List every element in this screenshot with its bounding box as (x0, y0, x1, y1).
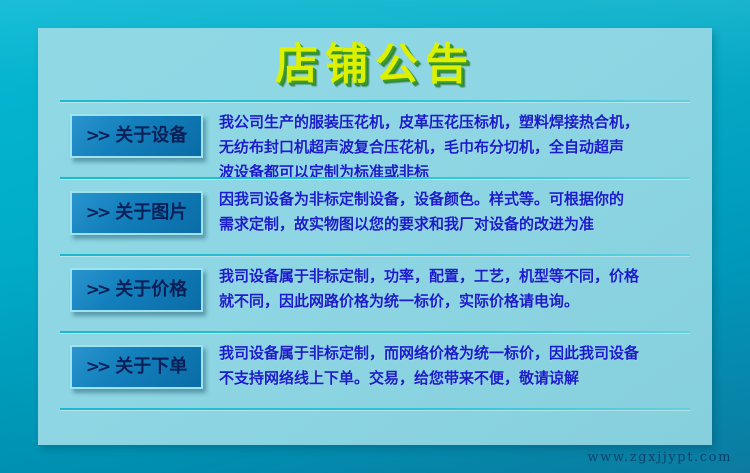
section-body-line: 就不同，因此网路价格为统一标价，实际价格请电询。 (219, 289, 694, 314)
section-divider (60, 331, 690, 333)
store-announcement-banner: 店铺公告 >>关于设备我公司生产的服装压花机，皮革压花压标机，塑料焊接热合机，无… (0, 0, 750, 473)
section-tag-label: 关于下单 (115, 357, 187, 377)
double-chevron-right-icon: >> (86, 126, 109, 146)
section-row: >>关于价格我司设备属于非标定制，功率，配置，工艺，机型等不同，价格就不同，因此… (38, 264, 712, 314)
section-tag-button[interactable]: >>关于下单 (70, 345, 203, 389)
section-body-line: 我司设备属于非标定制，而网络价格为统一标价，因此我司设备 (219, 341, 694, 366)
section-divider (60, 408, 690, 410)
section-divider (60, 177, 690, 179)
section-body-text: 我公司生产的服装压花机，皮革压花压标机，塑料焊接热合机，无纺布封口机超声波复合压… (219, 110, 694, 185)
section-row: >>关于设备我公司生产的服装压花机，皮革压花压标机，塑料焊接热合机，无纺布封口机… (38, 110, 712, 185)
section-tag-inner: >>关于图片 (86, 203, 188, 223)
section-divider (60, 254, 690, 256)
section-tag-button[interactable]: >>关于价格 (70, 268, 203, 312)
section-body-text: 我司设备属于非标定制，功率，配置，工艺，机型等不同，价格就不同，因此网路价格为统… (219, 264, 694, 314)
section-body-line: 我司设备属于非标定制，功率，配置，工艺，机型等不同，价格 (219, 264, 694, 289)
double-chevron-right-icon: >> (86, 357, 109, 377)
section-body-text: 因我司设备为非标定制设备，设备颜色。样式等。可根据你的需求定制，故实物图以您的要… (219, 187, 694, 237)
announcement-section (38, 408, 712, 410)
section-tag-inner: >>关于下单 (86, 357, 188, 377)
section-tag-button[interactable]: >>关于图片 (70, 191, 203, 235)
section-body-line: 需求定制，故实物图以您的要求和我厂对设备的改进为准 (219, 212, 694, 237)
section-tag-label: 关于图片 (115, 203, 187, 223)
announcement-section: >>关于设备我公司生产的服装压花机，皮革压花压标机，塑料焊接热合机，无纺布封口机… (38, 100, 712, 177)
announcement-section: >>关于价格我司设备属于非标定制，功率，配置，工艺，机型等不同，价格就不同，因此… (38, 254, 712, 331)
page-title-text: 店铺公告 (275, 39, 475, 91)
section-row: >>关于下单我司设备属于非标定制，而网络价格为统一标价，因此我司设备不支持网络线… (38, 341, 712, 391)
page-title: 店铺公告 (38, 39, 712, 91)
section-body-line: 我公司生产的服装压花机，皮革压花压标机，塑料焊接热合机， (219, 110, 694, 135)
section-body-text: 我司设备属于非标定制，而网络价格为统一标价，因此我司设备不支持网络线上下单。交易… (219, 341, 694, 391)
section-row: >>关于图片因我司设备为非标定制设备，设备颜色。样式等。可根据你的需求定制，故实… (38, 187, 712, 237)
announcement-section: >>关于下单我司设备属于非标定制，而网络价格为统一标价，因此我司设备不支持网络线… (38, 331, 712, 408)
section-tag-inner: >>关于价格 (86, 280, 188, 300)
section-tag-label: 关于设备 (115, 126, 187, 146)
section-divider (60, 100, 690, 102)
site-watermark: www.zgxjjypt.com (587, 450, 732, 465)
announcement-panel: 店铺公告 >>关于设备我公司生产的服装压花机，皮革压花压标机，塑料焊接热合机，无… (38, 28, 712, 445)
double-chevron-right-icon: >> (86, 280, 109, 300)
section-tag-button[interactable]: >>关于设备 (70, 114, 203, 158)
double-chevron-right-icon: >> (86, 203, 109, 223)
section-tag-label: 关于价格 (115, 280, 187, 300)
section-tag-inner: >>关于设备 (86, 126, 188, 146)
announcement-section-list: >>关于设备我公司生产的服装压花机，皮革压花压标机，塑料焊接热合机，无纺布封口机… (38, 100, 712, 410)
section-body-line: 不支持网络线上下单。交易，给您带来不便，敬请谅解 (219, 366, 694, 391)
section-body-line: 因我司设备为非标定制设备，设备颜色。样式等。可根据你的 (219, 187, 694, 212)
section-body-line: 无纺布封口机超声波复合压花机，毛巾布分切机，全自动超声 (219, 135, 694, 160)
announcement-section: >>关于图片因我司设备为非标定制设备，设备颜色。样式等。可根据你的需求定制，故实… (38, 177, 712, 254)
